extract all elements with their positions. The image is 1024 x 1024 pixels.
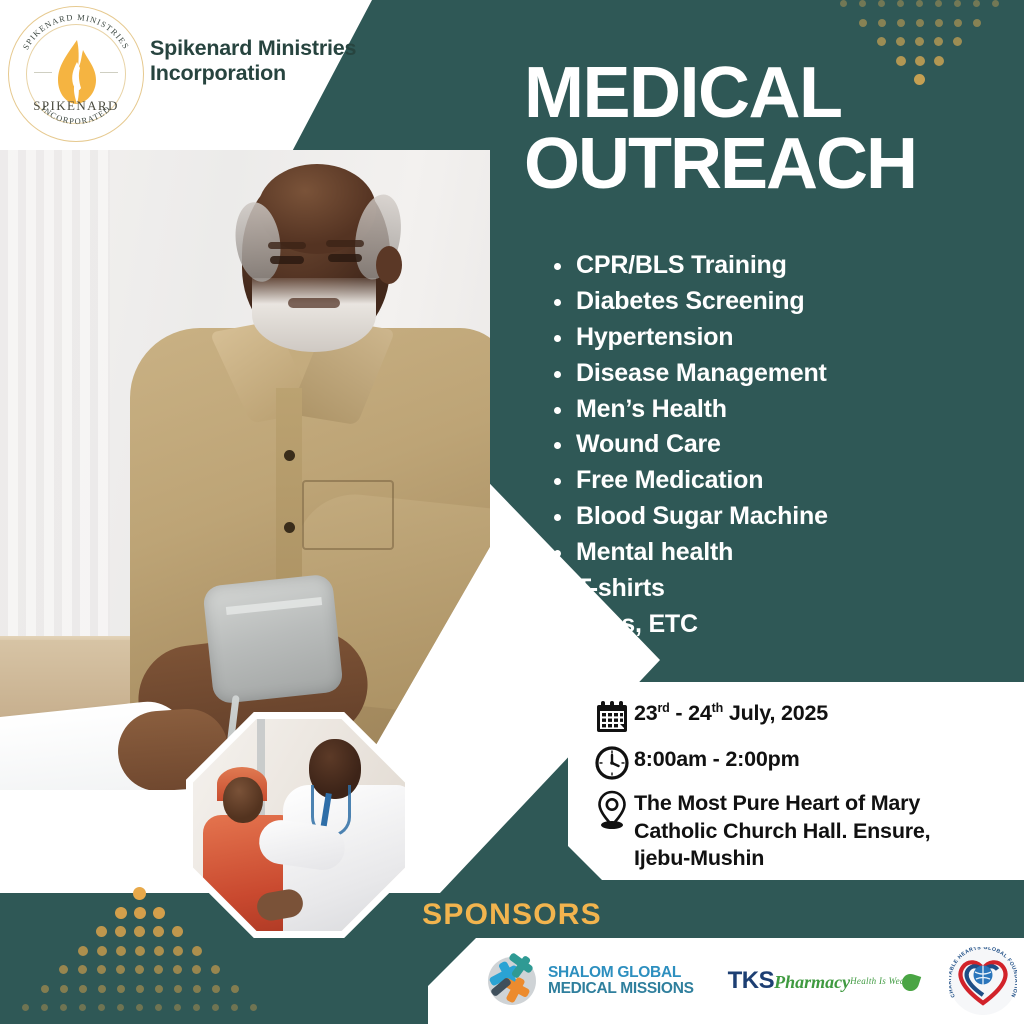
date-day1-suffix: rd	[658, 701, 670, 715]
service-item: Blood Sugar Machine	[548, 499, 988, 535]
services-list: CPR/BLS TrainingDiabetes ScreeningHypert…	[548, 248, 988, 643]
location-line-2: Catholic Church Hall. Ensure,	[634, 818, 930, 846]
location-line-3: Ijebu-Mushin	[634, 845, 930, 873]
detail-date-text: 23rd - 24th July, 2025	[634, 700, 828, 728]
sponsor-charitable-ring-label: CHARITABLE HEARTS GLOBAL FOUNDATION	[949, 947, 1017, 998]
detail-time-text: 8:00am - 2:00pm	[634, 746, 800, 774]
sponsor-tks-pharmacy: TKS Pharmacy Health Is Wealth	[728, 969, 915, 993]
sponsor-shalom-global: SHALOM GLOBAL MEDICAL MISSIONS	[484, 953, 694, 1009]
event-details-card: 23rd - 24th July, 2025 8:00am - 2:00pm	[568, 682, 1024, 880]
date-day2-suffix: th	[712, 701, 723, 715]
sponsor-charitable-hearts: CHARITABLE HEARTS GLOBAL FOUNDATION	[949, 947, 1017, 1015]
service-item: Pens, ETC	[548, 607, 988, 643]
sponsor-tks-line1: TKS	[728, 969, 775, 993]
dot-pattern-bottom-left	[16, 884, 256, 1024]
title-line-1: MEDICAL	[524, 53, 841, 133]
calendar-icon	[590, 700, 634, 734]
sponsor-tks-line2: Pharmacy	[774, 973, 850, 991]
clock-icon	[590, 746, 634, 780]
service-item: Hypertension	[548, 320, 988, 356]
svg-text:CHARITABLE HEARTS GLOBAL FOUND: CHARITABLE HEARTS GLOBAL FOUNDATION	[949, 947, 1017, 998]
service-item: T-shirts	[548, 571, 988, 607]
date-day1: 23	[634, 701, 658, 725]
service-item: Wound Care	[548, 427, 988, 463]
detail-location-text: The Most Pure Heart of Mary Catholic Chu…	[634, 790, 930, 873]
service-item: Free Medication	[548, 463, 988, 499]
service-item: Diabetes Screening	[548, 284, 988, 320]
date-separator: -	[670, 701, 689, 725]
dot-pattern-top-right	[834, 0, 1004, 106]
title-line-2: OUTREACH	[524, 129, 994, 200]
map-pin-icon	[590, 790, 634, 830]
detail-row-location: The Most Pure Heart of Mary Catholic Chu…	[590, 790, 1010, 873]
service-item: Mental health	[548, 535, 988, 571]
detail-row-time: 8:00am - 2:00pm	[590, 746, 800, 780]
date-day2: 24	[688, 701, 712, 725]
detail-row-date: 23rd - 24th July, 2025	[590, 700, 828, 734]
sponsor-charitable-ring-text: CHARITABLE HEARTS GLOBAL FOUNDATION	[949, 947, 1017, 1015]
sponsor-shalom-line2: MEDICAL MISSIONS	[548, 981, 694, 997]
leaf-icon	[900, 972, 921, 993]
pinwheel-cross-icon	[484, 953, 540, 1009]
logo-wordmark: SPIKENARD	[8, 98, 144, 114]
flyer-poster: SPIKENARD MINISTRIES INCORPORATED SPIKEN…	[0, 0, 1024, 1024]
heart-globe-icon: CHARITABLE HEARTS GLOBAL FOUNDATION	[949, 947, 1017, 1015]
sponsor-logo-strip: SHALOM GLOBAL MEDICAL MISSIONS TKS Pharm…	[428, 938, 1024, 1024]
service-item: CPR/BLS Training	[548, 248, 988, 284]
sponsor-shalom-line1: SHALOM GLOBAL	[548, 965, 694, 981]
service-item: Disease Management	[548, 356, 988, 392]
organization-name: Spikenard Ministries Incorporation	[150, 36, 380, 87]
date-month-year: July, 2025	[723, 701, 828, 725]
spikenard-logo: SPIKENARD MINISTRIES INCORPORATED SPIKEN…	[8, 6, 144, 142]
service-item: Men’s Health	[548, 392, 988, 428]
location-line-1: The Most Pure Heart of Mary	[634, 790, 930, 818]
